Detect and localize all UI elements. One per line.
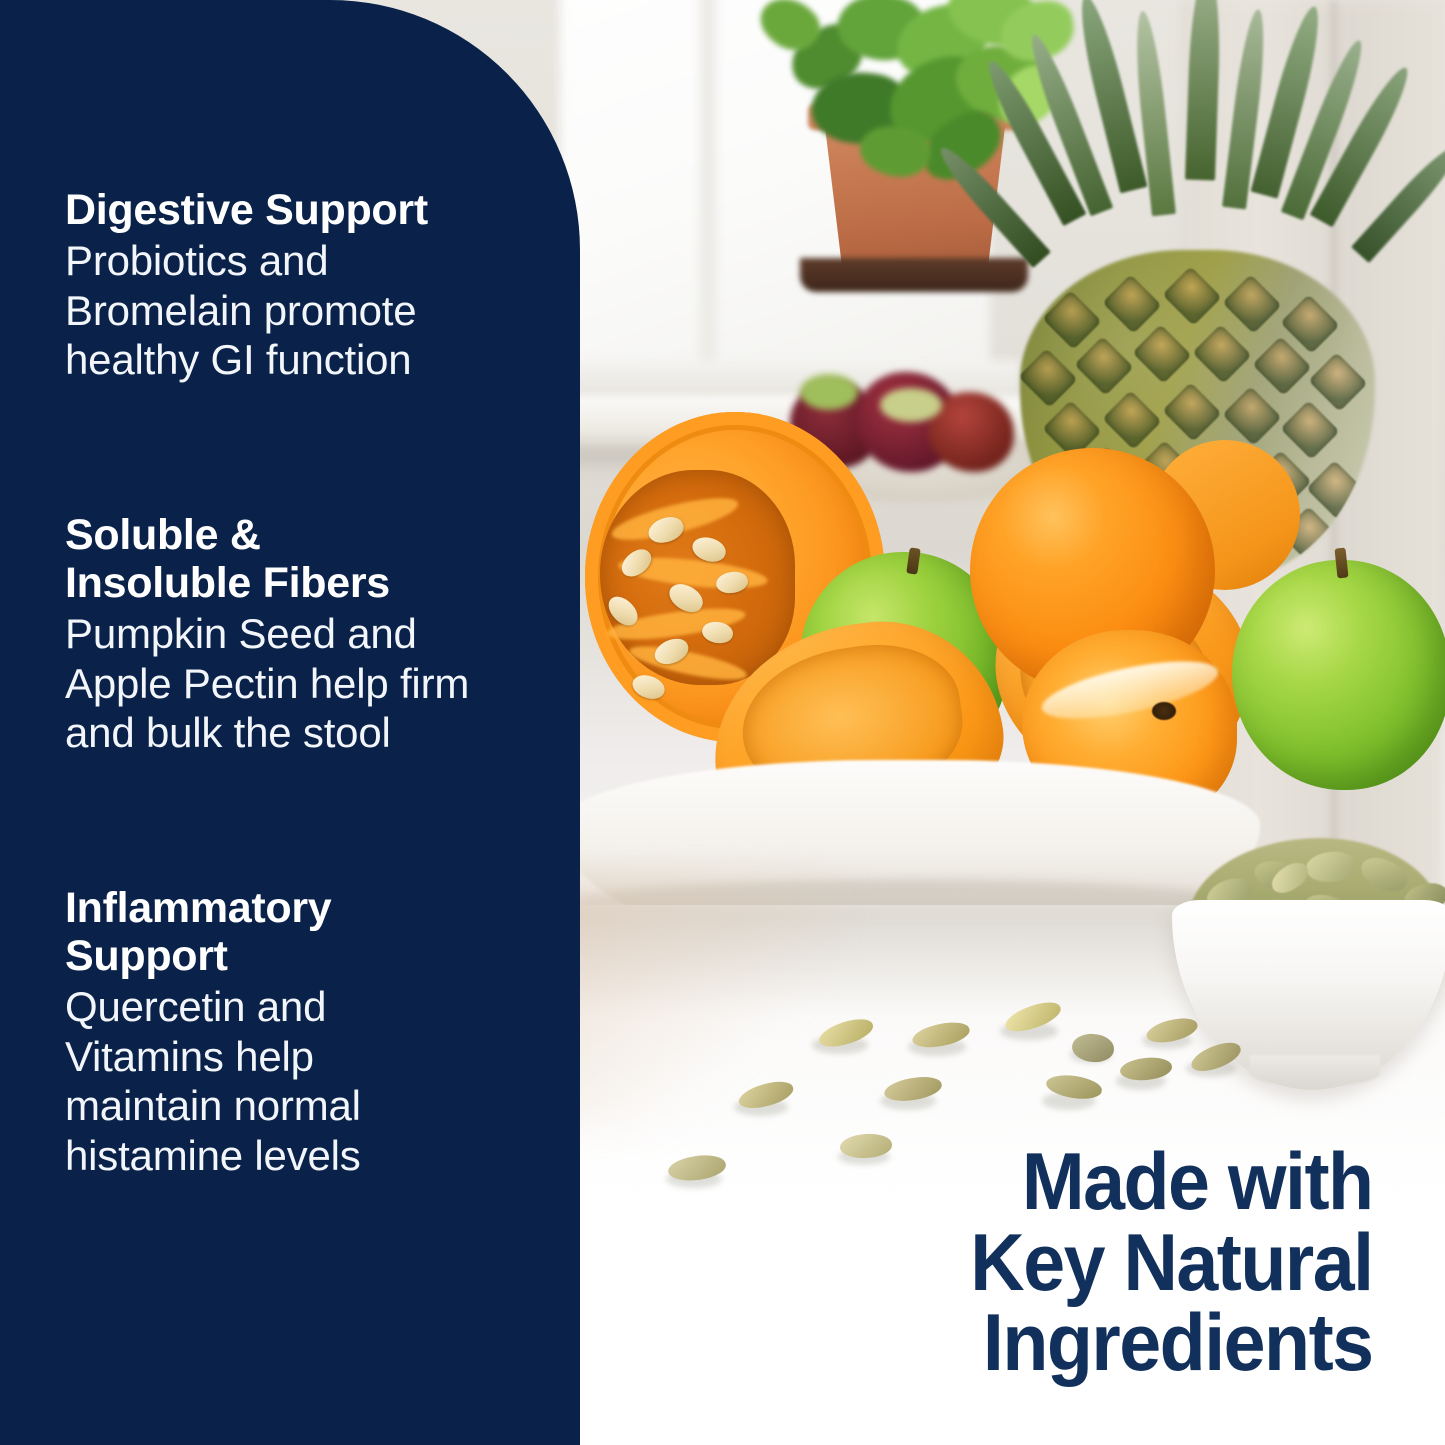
benefit-body: Quercetin and Vitamins help maintain nor… [65, 982, 560, 1180]
benefit-item-inflammatory-support: Inflammatory Support Quercetin and Vitam… [65, 884, 560, 1181]
green-apple-right [1232, 560, 1445, 790]
benefit-title: Soluble & Insoluble Fibers [65, 511, 560, 607]
headline-line-3: Ingredients [971, 1303, 1373, 1383]
benefit-title: Inflammatory Support [65, 884, 560, 980]
promo-graphic: Made with Key Natural Ingredients Digest… [0, 0, 1445, 1445]
headline-line-1: Made with [971, 1142, 1373, 1222]
benefits-list: Digestive Support Probiotics and Bromela… [65, 186, 560, 1180]
pot-saucer [800, 258, 1028, 292]
window-mullion [700, 0, 716, 400]
headline-line-2: Key Natural [971, 1223, 1373, 1303]
benefit-item-digestive-support: Digestive Support Probiotics and Bromela… [65, 186, 560, 385]
seed-bowl-foot [1250, 1055, 1380, 1085]
benefit-body: Pumpkin Seed and Apple Pectin help firm … [65, 609, 560, 758]
benefit-title: Digestive Support [65, 186, 560, 234]
counter-warm-light [540, 880, 840, 1130]
headline: Made with Key Natural Ingredients [971, 1142, 1373, 1383]
orange-blemish [1152, 702, 1176, 720]
benefits-panel: Digestive Support Probiotics and Bromela… [0, 0, 580, 1445]
benefit-body: Probiotics and Bromelain promote healthy… [65, 236, 560, 385]
benefit-item-soluble-insoluble-fibers: Soluble & Insoluble Fibers Pumpkin Seed … [65, 511, 560, 758]
